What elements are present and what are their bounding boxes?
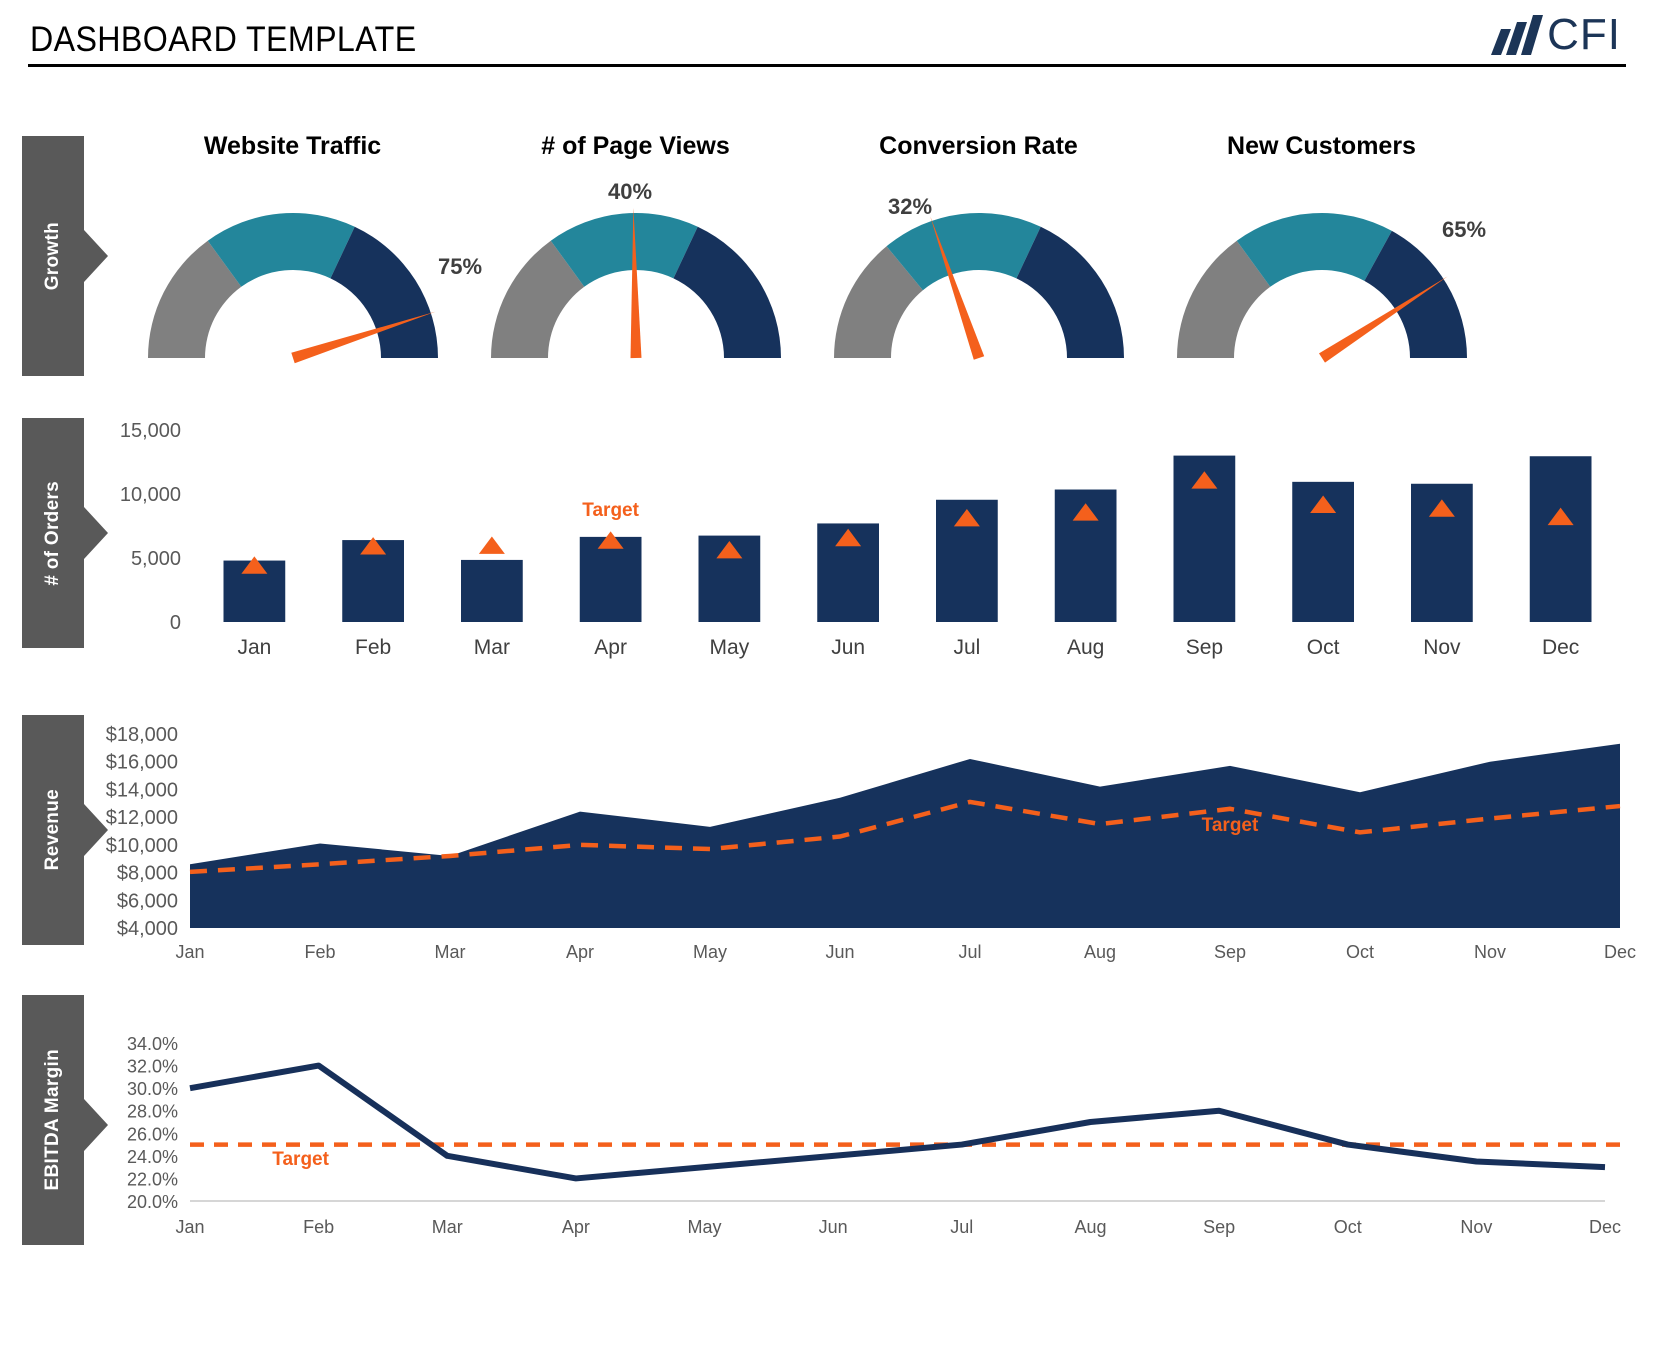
- section-tab-growth[interactable]: Growth: [22, 136, 84, 376]
- bar: [461, 560, 523, 622]
- x-axis-tick-label: May: [688, 1217, 722, 1237]
- y-axis-tick-label: 30.0%: [127, 1079, 178, 1099]
- y-axis-tick-label: 0: [170, 612, 181, 634]
- gauge-page-views[interactable]: # of Page Views 40%: [463, 132, 808, 372]
- page-header: DASHBOARD TEMPLATE CFI: [0, 0, 1653, 68]
- y-axis-tick-label: $8,000: [117, 863, 178, 885]
- x-axis-tick-label: May: [710, 636, 750, 659]
- x-axis-tick-label: Jun: [825, 942, 854, 962]
- target-annotation: Target: [582, 500, 639, 521]
- x-axis-tick-label: Jul: [950, 1217, 973, 1237]
- gauge-chart: [463, 132, 808, 372]
- x-axis-tick-label: May: [693, 942, 727, 962]
- section-tab-label: Revenue: [22, 715, 84, 945]
- x-axis-tick-label: Jan: [237, 636, 271, 659]
- gauge-title: Conversion Rate: [806, 132, 1151, 161]
- x-axis-tick-label: Nov: [1474, 942, 1506, 962]
- section-tab-label: # of Orders: [22, 418, 84, 648]
- y-axis-tick-label: 34.0%: [127, 1034, 178, 1054]
- gauge-new-customers[interactable]: New Customers 65%: [1149, 132, 1494, 372]
- y-axis-tick-label: $18,000: [106, 724, 178, 746]
- x-axis-tick-label: Jul: [958, 942, 981, 962]
- orders-bar-chart: 15,00010,0005,0000JanFebMarAprMayJunJulA…: [90, 412, 1630, 662]
- section-tab-ebitda[interactable]: EBITDA Margin: [22, 995, 84, 1245]
- x-axis-tick-label: Aug: [1074, 1217, 1106, 1237]
- x-axis-tick-label: Feb: [303, 1217, 334, 1237]
- section-tab-label: Growth: [22, 136, 84, 376]
- x-axis-tick-label: Apr: [594, 636, 627, 659]
- target-annotation: Target: [1202, 815, 1259, 836]
- gauge-value-label: 32%: [888, 194, 932, 220]
- section-tab-orders[interactable]: # of Orders: [22, 418, 84, 648]
- chevron-right-icon: [84, 230, 108, 282]
- x-axis-tick-label: Mar: [432, 1217, 463, 1237]
- header-divider: [28, 64, 1626, 67]
- gauge-band-high: [1016, 227, 1124, 358]
- x-axis-tick-label: Oct: [1346, 942, 1374, 962]
- x-axis-tick-label: Mar: [474, 636, 510, 659]
- y-axis-tick-label: $16,000: [106, 752, 178, 774]
- orders-bar-chart-panel[interactable]: 15,00010,0005,0000JanFebMarAprMayJunJulA…: [90, 412, 1630, 662]
- x-axis-tick-label: Jun: [819, 1217, 848, 1237]
- ebitda-line-chart: 34.0%32.0%30.0%28.0%26.0%24.0%22.0%20.0%…: [90, 993, 1630, 1245]
- x-axis-tick-label: Dec: [1604, 942, 1636, 962]
- x-axis-tick-label: Feb: [304, 942, 335, 962]
- gauge-chart: [120, 132, 465, 372]
- gauge-band-high: [673, 227, 781, 358]
- x-axis-tick-label: Sep: [1203, 1217, 1235, 1237]
- gauge-title: # of Page Views: [463, 132, 808, 161]
- gauge-chart: [806, 132, 1151, 372]
- y-axis-tick-label: 15,000: [120, 420, 181, 442]
- revenue-area-chart-panel[interactable]: $18,000$16,000$14,000$12,000$10,000$8,00…: [90, 706, 1630, 971]
- gauge-value-label: 65%: [1442, 217, 1486, 243]
- ebitda-line-chart-panel[interactable]: 34.0%32.0%30.0%28.0%26.0%24.0%22.0%20.0%…: [90, 993, 1630, 1245]
- y-axis-tick-label: $6,000: [117, 890, 178, 912]
- x-axis-tick-label: Jun: [831, 636, 865, 659]
- y-axis-tick-label: $12,000: [106, 807, 178, 829]
- gauge-conversion-rate[interactable]: Conversion Rate 32%: [806, 132, 1151, 372]
- gauge-value-label: 40%: [608, 179, 652, 205]
- x-axis-tick-label: Aug: [1067, 636, 1104, 659]
- target-annotation: Target: [272, 1149, 329, 1170]
- x-axis-tick-label: Dec: [1542, 636, 1579, 659]
- y-axis-tick-label: 10,000: [120, 484, 181, 506]
- gauge-title: Website Traffic: [120, 132, 465, 161]
- x-axis-tick-label: Jan: [175, 1217, 204, 1237]
- x-axis-tick-label: Apr: [562, 1217, 590, 1237]
- x-axis-tick-label: Mar: [435, 942, 466, 962]
- target-marker: [479, 536, 505, 553]
- x-axis-tick-label: Nov: [1460, 1217, 1492, 1237]
- y-axis-tick-label: 20.0%: [127, 1192, 178, 1212]
- x-axis-tick-label: Aug: [1084, 942, 1116, 962]
- x-axis-tick-label: Sep: [1214, 942, 1246, 962]
- y-axis-tick-label: 24.0%: [127, 1147, 178, 1167]
- x-axis-tick-label: Dec: [1589, 1217, 1621, 1237]
- cfi-logo-text: CFI: [1547, 13, 1621, 57]
- x-axis-tick-label: Nov: [1423, 636, 1461, 659]
- revenue-area: [190, 744, 1620, 928]
- y-axis-tick-label: 32.0%: [127, 1057, 178, 1077]
- section-tab-label: EBITDA Margin: [22, 995, 84, 1245]
- gauge-website-traffic[interactable]: Website Traffic 75%: [120, 132, 465, 372]
- y-axis-tick-label: 22.0%: [127, 1169, 178, 1189]
- cfi-bars-logo-icon: [1481, 15, 1543, 55]
- y-axis-tick-label: $4,000: [117, 918, 178, 940]
- x-axis-tick-label: Apr: [566, 942, 594, 962]
- y-axis-tick-label: 5,000: [131, 548, 181, 570]
- x-axis-tick-label: Feb: [355, 636, 391, 659]
- y-axis-tick-label: $10,000: [106, 835, 178, 857]
- x-axis-tick-label: Oct: [1334, 1217, 1362, 1237]
- x-axis-tick-label: Jan: [175, 942, 204, 962]
- x-axis-tick-label: Sep: [1186, 636, 1223, 659]
- revenue-area-chart: $18,000$16,000$14,000$12,000$10,000$8,00…: [90, 706, 1630, 971]
- growth-gauge-row: Website Traffic 75% # of Page Views 40% …: [120, 132, 1620, 372]
- section-tab-revenue[interactable]: Revenue: [22, 715, 84, 945]
- y-axis-tick-label: $14,000: [106, 779, 178, 801]
- page-title: DASHBOARD TEMPLATE: [30, 20, 417, 60]
- bar: [1530, 456, 1592, 622]
- y-axis-tick-label: 26.0%: [127, 1124, 178, 1144]
- gauge-title: New Customers: [1149, 132, 1494, 161]
- ebitda-line: [190, 1066, 1605, 1179]
- x-axis-tick-label: Oct: [1307, 636, 1340, 659]
- x-axis-tick-label: Jul: [953, 636, 980, 659]
- gauge-chart: [1149, 132, 1494, 372]
- bar: [580, 537, 642, 622]
- y-axis-tick-label: 28.0%: [127, 1102, 178, 1122]
- cfi-logo: CFI: [1481, 12, 1621, 58]
